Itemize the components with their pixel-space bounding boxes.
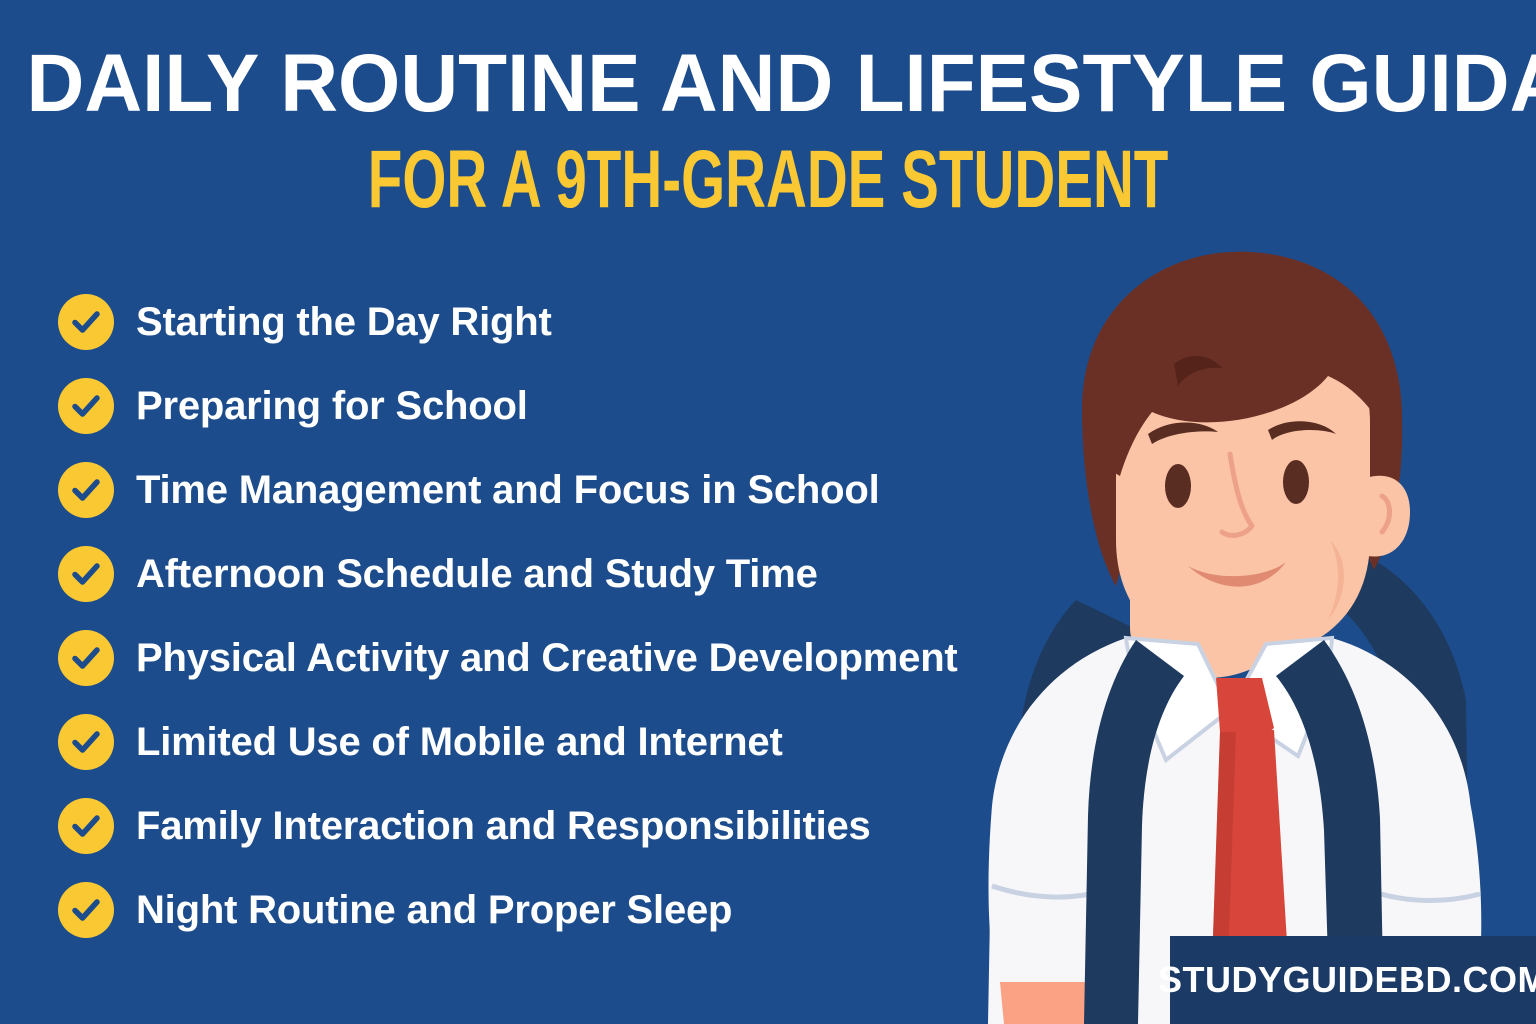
collar-left (1126, 638, 1230, 760)
check-circle-icon (58, 630, 114, 686)
list-item[interactable]: Time Management and Focus in School (58, 448, 1088, 532)
title-line-primary: DAILY ROUTINE AND LIFESTYLE GUIDANCE (21, 38, 1536, 130)
hair-highlight (1174, 356, 1222, 386)
eye-left-icon (1165, 464, 1191, 508)
watermark-bar: STUDYGUIDEBD.COM (1170, 936, 1536, 1024)
list-item-label: Preparing for School (136, 383, 528, 429)
check-circle-icon (58, 714, 114, 770)
list-item[interactable]: Limited Use of Mobile and Internet (58, 700, 1088, 784)
check-circle-icon (58, 882, 114, 938)
sleeve-cuff-line-right (1374, 892, 1480, 901)
neck-shadow (1130, 540, 1282, 612)
check-circle-icon (58, 798, 114, 854)
hair-front-shape (1082, 252, 1402, 476)
ear-detail (1382, 496, 1390, 532)
infographic-poster: DAILY ROUTINE AND LIFESTYLE GUIDANCE FOR… (0, 0, 1536, 1024)
check-circle-icon (58, 378, 114, 434)
list-item[interactable]: Physical Activity and Creative Developme… (58, 616, 1088, 700)
mouth-shape (1188, 562, 1286, 587)
check-circle-icon (58, 462, 114, 518)
list-item-label: Physical Activity and Creative Developme… (136, 635, 958, 681)
eye-right-icon (1283, 460, 1309, 504)
hair-back-shape (1082, 252, 1402, 586)
tie-knot (1216, 678, 1274, 752)
list-item[interactable]: Afternoon Schedule and Study Time (58, 532, 1088, 616)
list-item-label: Starting the Day Right (136, 299, 552, 345)
arm-left-skin (1000, 982, 1106, 1024)
check-circle-icon (58, 294, 114, 350)
title-line-secondary: FOR A 9TH-GRADE STUDENT (368, 134, 1169, 226)
list-item[interactable]: Preparing for School (58, 364, 1088, 448)
list-item[interactable]: Night Routine and Proper Sleep (58, 868, 1088, 952)
list-item-label: Family Interaction and Responsibilities (136, 803, 871, 849)
eyebrow-right-icon (1268, 421, 1336, 440)
watermark-text: STUDYGUIDEBD.COM (1158, 959, 1536, 1001)
collar-right (1230, 638, 1332, 756)
list-item-label: Limited Use of Mobile and Internet (136, 719, 783, 765)
list-item[interactable]: Family Interaction and Responsibilities (58, 784, 1088, 868)
list-item[interactable]: Starting the Day Right (58, 280, 1088, 364)
ear-shape (1366, 476, 1410, 557)
nose-shape (1222, 454, 1252, 535)
list-item-label: Afternoon Schedule and Study Time (136, 551, 818, 597)
list-item-label: Time Management and Focus in School (136, 467, 880, 513)
cheek-shadow (1328, 540, 1344, 620)
list-item-label: Night Routine and Proper Sleep (136, 887, 732, 933)
check-circle-icon (58, 546, 114, 602)
page-title: DAILY ROUTINE AND LIFESTYLE GUIDANCE FOR… (0, 38, 1536, 226)
checklist: Starting the Day Right Preparing for Sch… (58, 280, 1088, 952)
eyebrow-left-icon (1148, 423, 1218, 445)
neck-shape (1130, 510, 1282, 678)
face-shape (1116, 314, 1370, 658)
